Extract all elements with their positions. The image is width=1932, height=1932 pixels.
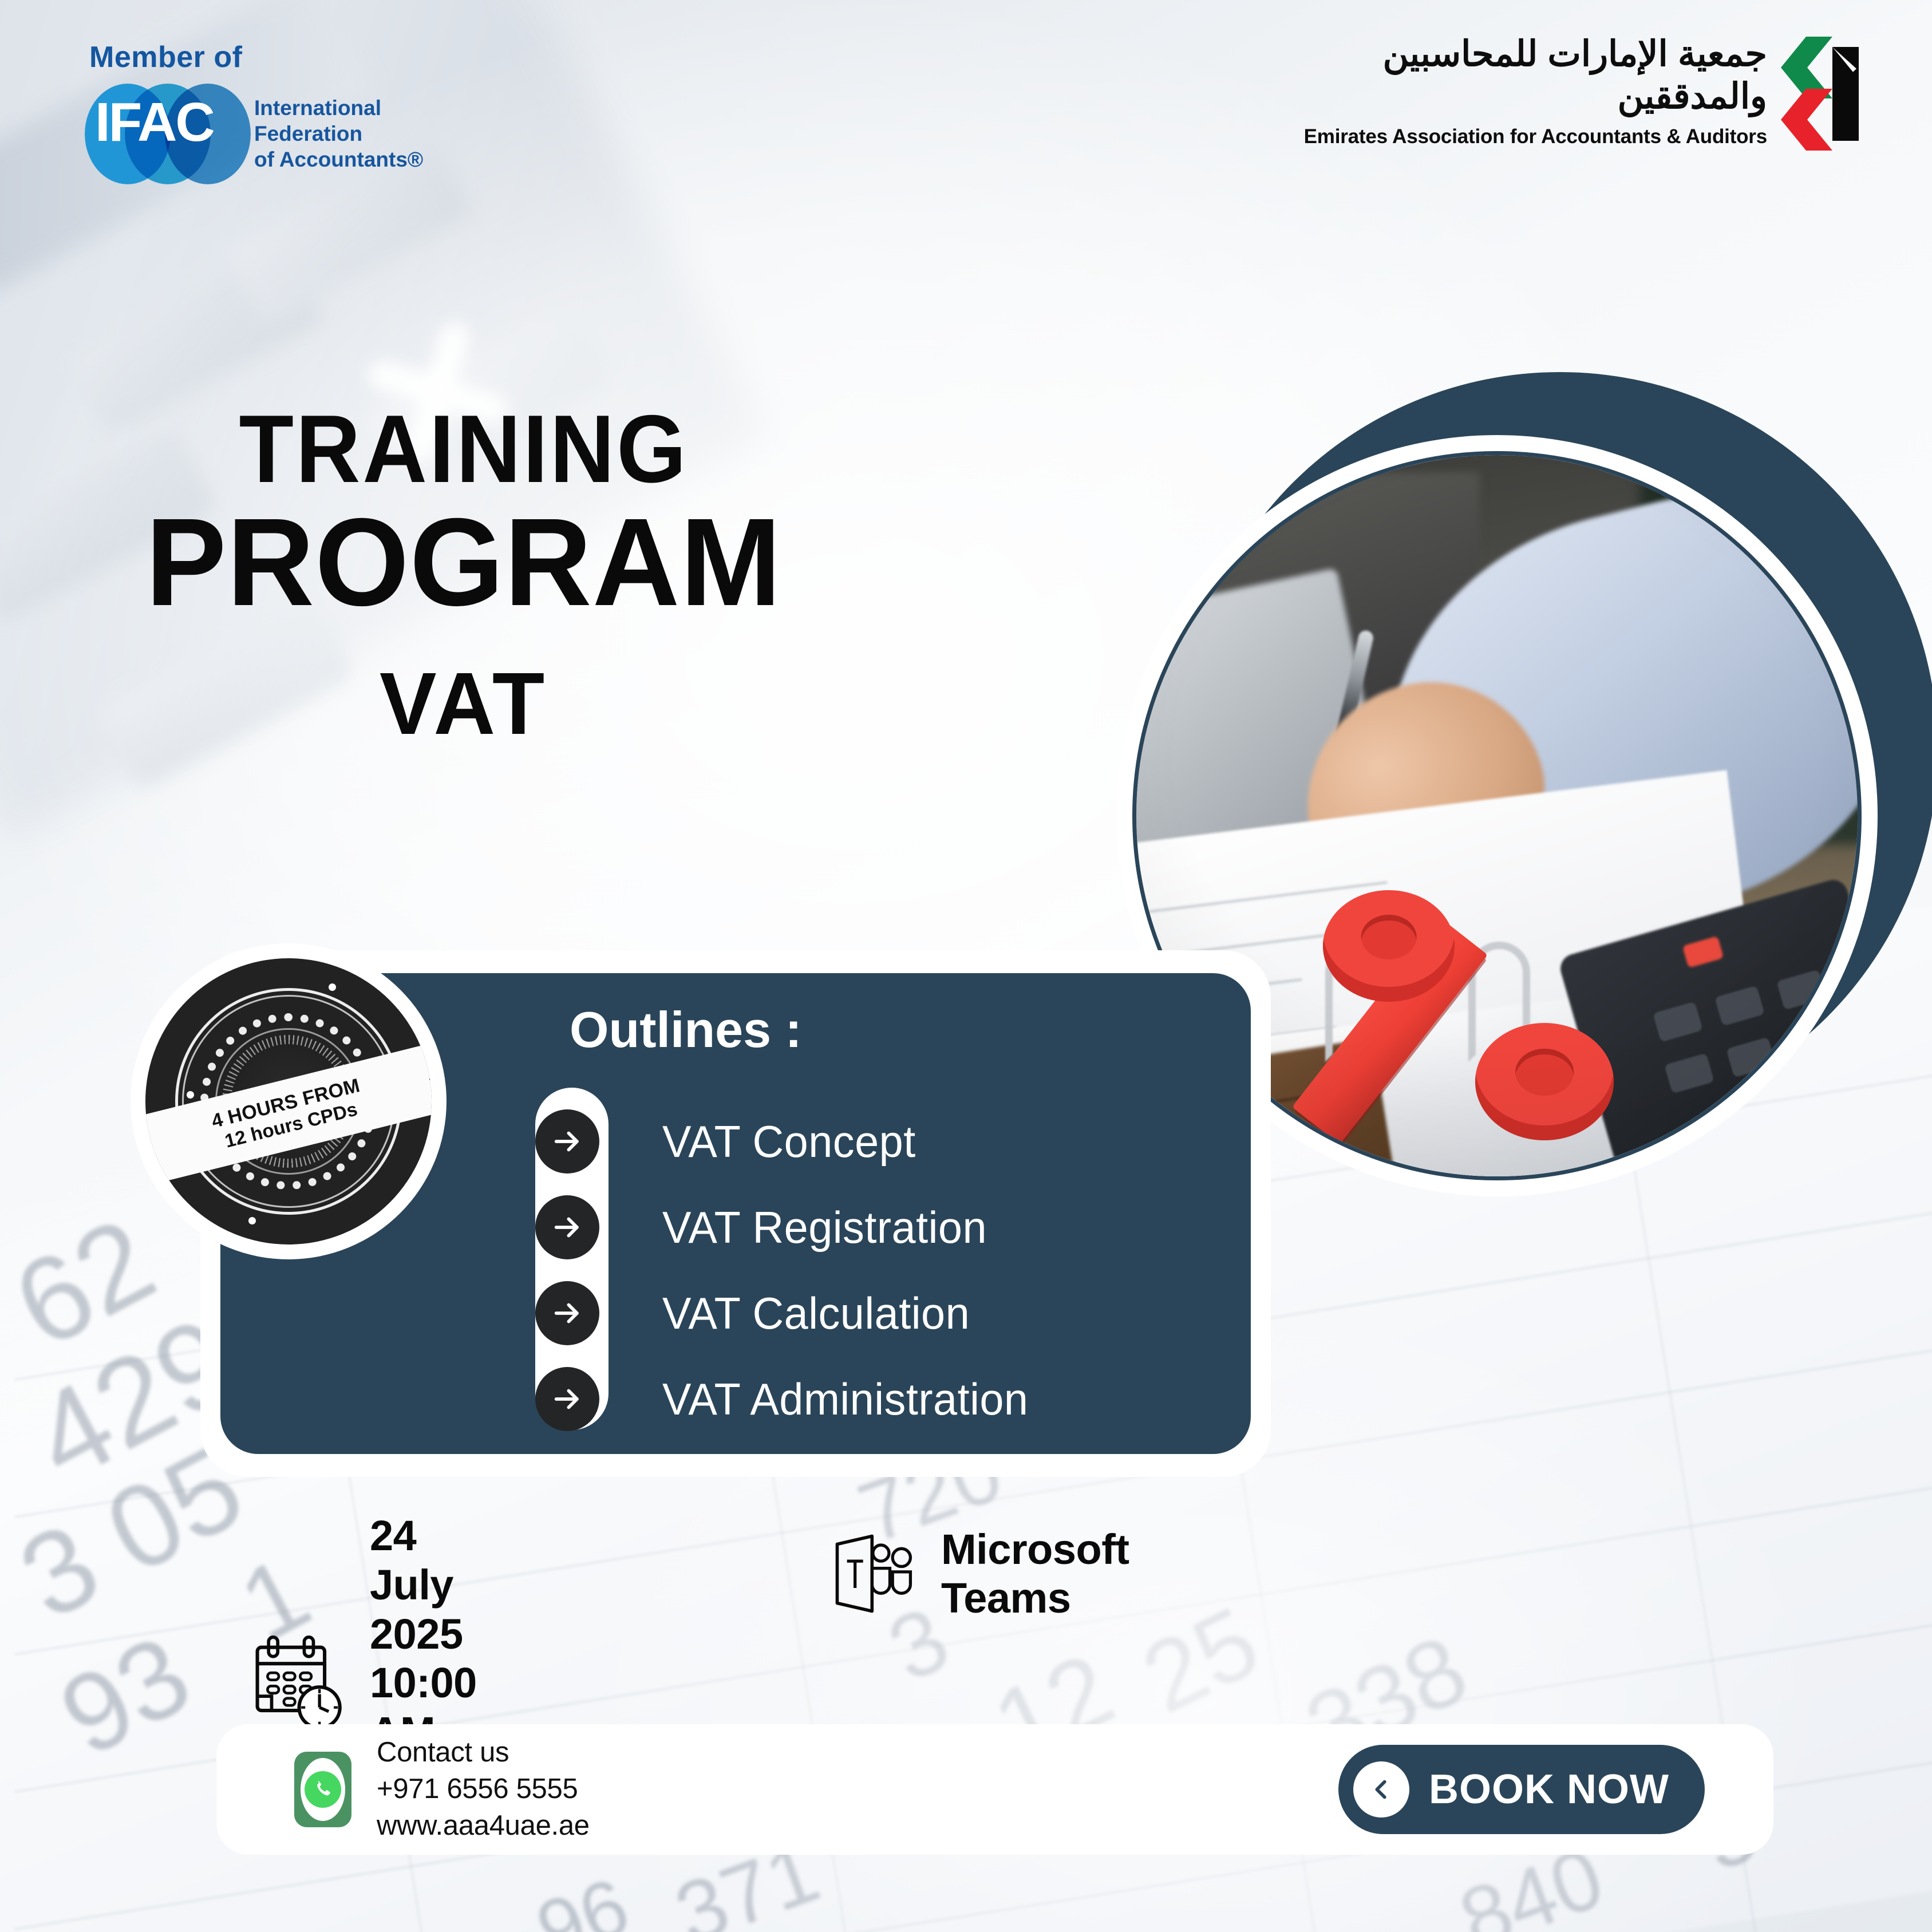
ifac-subtitle-line2: Federation: [254, 121, 423, 147]
arrow-right-icon: [535, 1195, 599, 1259]
ifac-subtitle: International Federation of Accountants®: [254, 95, 423, 172]
cpd-badge-stamp: 4 HOURS FROM 12 hours CPDs: [145, 958, 432, 1244]
outline-item-label: VAT Administration: [662, 1373, 1029, 1425]
contact-label: Contact us: [377, 1735, 590, 1771]
outline-item[interactable]: VAT Concept: [535, 1109, 923, 1174]
arrow-right-icon: [535, 1281, 599, 1345]
outline-item-label: VAT Calculation: [662, 1287, 970, 1340]
ifac-logo: Member of IFAC International Federation …: [73, 40, 428, 183]
arrow-right-icon: [535, 1367, 599, 1431]
eaaa-chevron-mark-icon: [1773, 34, 1864, 152]
title-line-training: TRAINING: [33, 401, 895, 497]
arrow-right-icon: [535, 1109, 599, 1174]
calendar-clock-icon: [246, 1632, 348, 1734]
contact-website[interactable]: www.aaa4uae.ae: [377, 1808, 590, 1844]
eaaa-logo: جمعية الإمارات للمحاسبين والمدققين Emira…: [1246, 33, 1864, 159]
eaaa-english-name: Emirates Association for Accountants & A…: [1246, 125, 1767, 148]
book-now-label: BOOK NOW: [1429, 1766, 1669, 1813]
book-now-button[interactable]: BOOK NOW: [1338, 1745, 1705, 1834]
phone-glyph-icon: [312, 1779, 334, 1800]
outline-item[interactable]: VAT Administration: [535, 1367, 1040, 1431]
ifac-member-of-label: Member of: [89, 40, 242, 74]
page-title: TRAINING PROGRAM VAT: [0, 401, 927, 748]
ifac-subtitle-line1: International: [254, 95, 423, 121]
outline-item-label: VAT Concept: [662, 1116, 916, 1168]
title-line-program: PROGRAM: [14, 499, 913, 626]
event-date: 24 July 2025: [370, 1511, 477, 1658]
contact-bar: Contact us +971 6556 5555 www.aaa4uae.ae…: [216, 1724, 1773, 1855]
eaaa-arabic-name: جمعية الإمارات للمحاسبين والمدققين: [1246, 33, 1767, 118]
contact-details: Contact us +971 6556 5555 www.aaa4uae.ae: [377, 1735, 590, 1844]
event-platform: Microsoft Teams: [830, 1525, 1129, 1622]
platform-label: Microsoft Teams: [941, 1525, 1129, 1622]
ifac-subtitle-line3: of Accountants®: [254, 147, 423, 172]
outline-item-label: VAT Registration: [662, 1202, 987, 1254]
title-line-vat: VAT: [14, 659, 913, 748]
outline-item[interactable]: VAT Registration: [535, 1195, 997, 1259]
cpd-badge: 4 HOURS FROM 12 hours CPDs: [131, 943, 447, 1259]
contact-phone[interactable]: +971 6556 5555: [377, 1771, 590, 1808]
chevron-left-icon: [1353, 1761, 1409, 1818]
microsoft-teams-icon: [830, 1529, 919, 1618]
outline-item[interactable]: VAT Calculation: [535, 1281, 979, 1345]
ifac-wordmark: IFAC: [95, 95, 214, 150]
outlines-heading: Outlines :: [570, 1001, 802, 1059]
whatsapp-icon[interactable]: [294, 1752, 351, 1827]
poster-root: 624293 0593172012253383371840965 Member …: [0, 0, 1932, 1932]
